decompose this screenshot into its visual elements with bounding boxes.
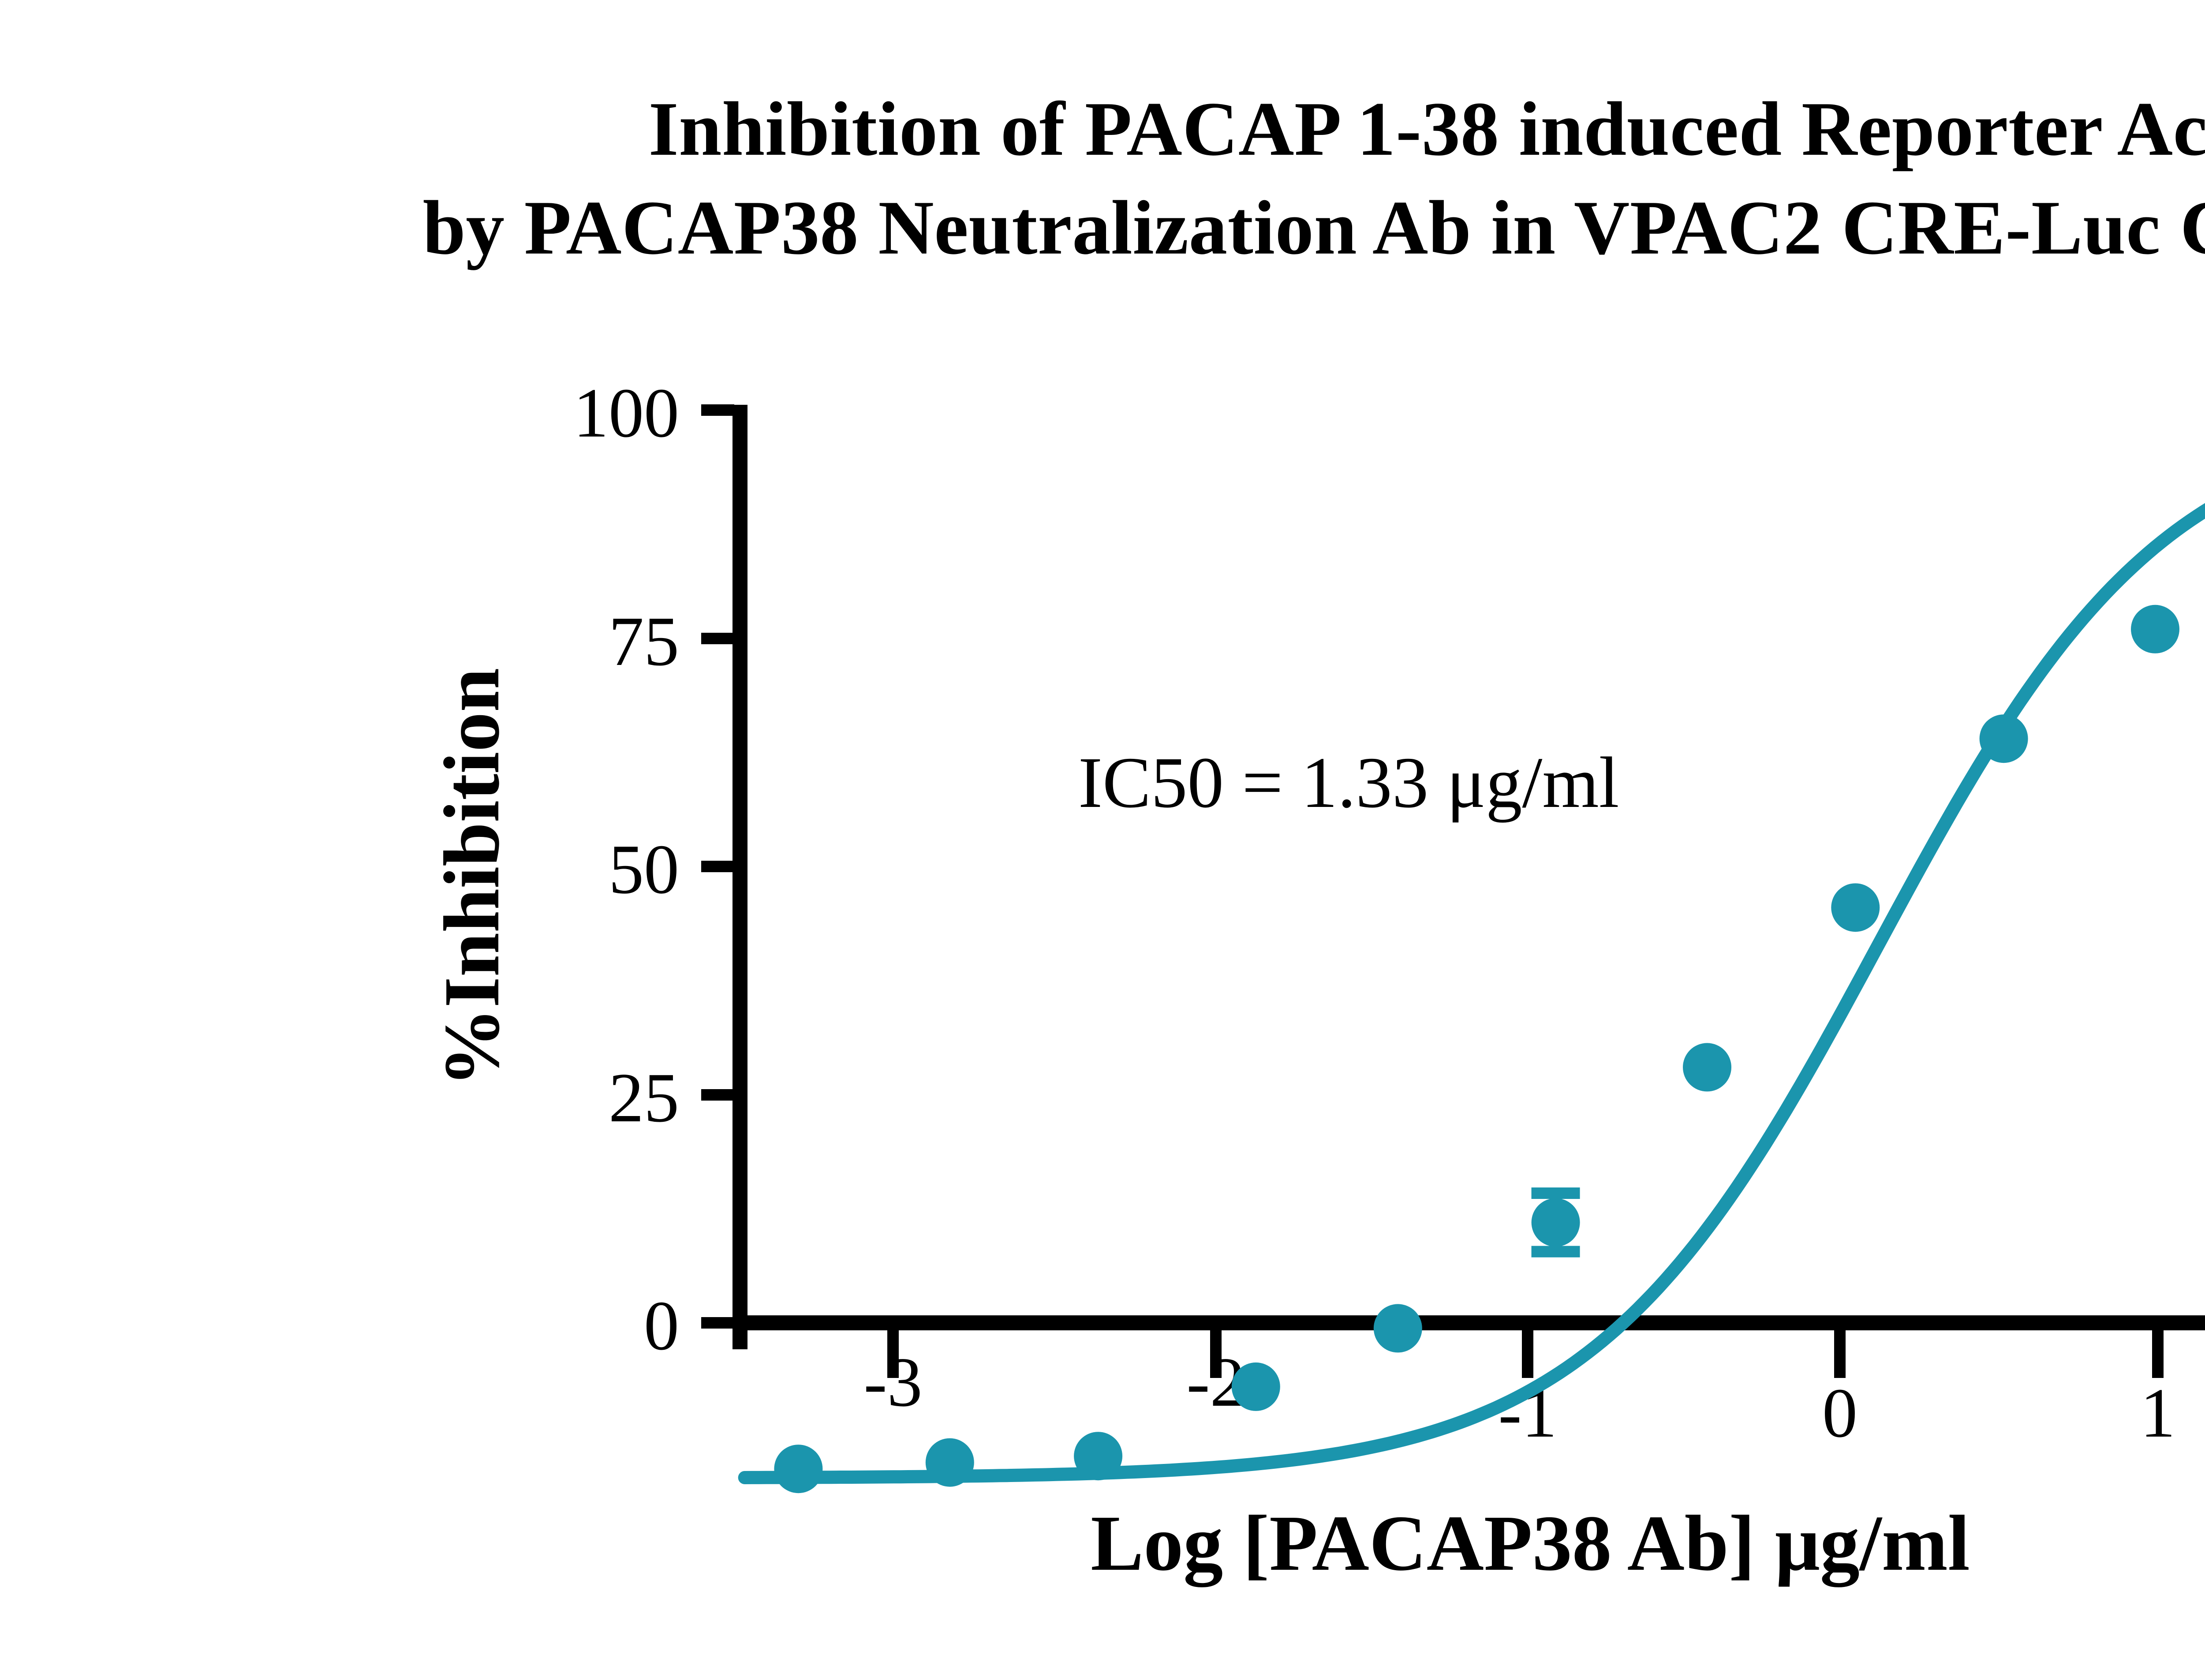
y-tick-label-100: 100	[573, 373, 679, 452]
data-point	[1532, 1198, 1580, 1247]
data-point	[1980, 714, 2028, 763]
data-point	[926, 1438, 974, 1487]
data-point	[1374, 1304, 1422, 1352]
x-tick-label-0: 0	[1822, 1374, 1857, 1452]
data-point	[2131, 605, 2179, 653]
x-tick-label-1: 1	[2140, 1374, 2175, 1452]
x-tick-label--3: -3	[863, 1343, 922, 1421]
data-point	[1074, 1432, 1122, 1480]
data-point	[1831, 883, 1880, 932]
data-point	[1683, 1043, 1731, 1091]
y-tick-label-0: 0	[644, 1286, 679, 1365]
y-axis-title: %Inhibition	[428, 668, 516, 1087]
y-tick-label-75: 75	[609, 602, 679, 680]
data-point	[1232, 1363, 1280, 1411]
data-point	[774, 1445, 822, 1493]
plot-area: %Inhibition 100 75 50 25 0 -3 -2 -1 0 1 …	[0, 0, 2205, 1680]
data-point-group	[774, 514, 2205, 1493]
figure-canvas: Inhibition of PACAP 1-38 induced Reporte…	[0, 0, 2205, 1680]
y-tick-label-25: 25	[609, 1058, 679, 1137]
x-axis-title: Log [PACAP38 Ab] μg/ml	[1091, 1499, 1970, 1587]
y-tick-label-50: 50	[609, 830, 679, 908]
ic50-annotation: IC50 = 1.33 μg/ml	[1078, 742, 1619, 823]
